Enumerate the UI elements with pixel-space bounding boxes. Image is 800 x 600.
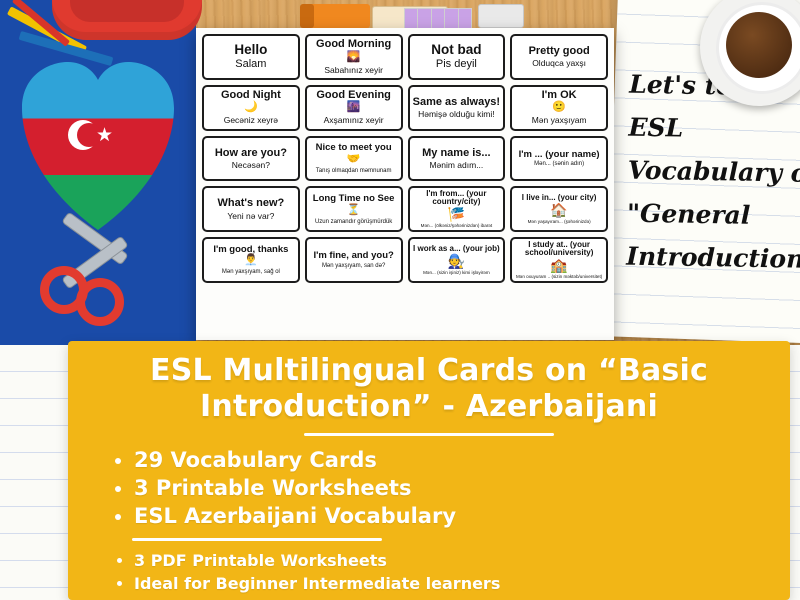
card-english-text: Pretty good: [529, 46, 590, 57]
card-azerbaijani-text: Mən oxuyuram .. (sizin məktəb/universite…: [516, 275, 602, 280]
card-english-text: My name is...: [422, 148, 490, 159]
card-azerbaijani-text: Mən yaxşıyam, san də?: [322, 263, 385, 269]
card-azerbaijani-text: Axşamınız xeyir: [324, 116, 384, 125]
vocab-card: Long Time no See⏳Uzun zamandır görüşmürd…: [305, 186, 403, 232]
card-english-text: I live in... (your city): [522, 194, 597, 202]
vocab-card: Good Night🌙Gecəniz xeyrə: [202, 85, 300, 131]
card-english-text: Nice to meet you: [316, 143, 392, 153]
vocab-card: How are you?Necəsən?: [202, 136, 300, 182]
vocab-card: Good Morning🌄Sabahınız xeyir: [305, 34, 403, 80]
card-english-text: Long Time no See: [313, 194, 395, 204]
card-english-text: I'm from... (your country/city): [412, 190, 502, 206]
card-azerbaijani-text: Mən... (sizin işiniz) kimi işləyirəm: [423, 271, 490, 276]
card-azerbaijani-text: Tanış olmaqdan məmnunam: [316, 168, 392, 174]
vocabulary-card-sheet: HelloSalamGood Morning🌄Sabahınız xeyirNo…: [196, 28, 614, 340]
feature-item: ESL Azerbaijani Vocabulary: [134, 502, 766, 530]
card-azerbaijani-text: Həmişə olduğu kimi!: [418, 110, 495, 119]
card-azerbaijani-text: Mənim adım...: [429, 161, 483, 170]
card-english-text: I'm ... (your name): [519, 150, 600, 160]
card-illustration-icon: 👨‍💼: [244, 255, 258, 266]
vocab-card: HelloSalam: [202, 34, 300, 80]
card-illustration-icon: 🎏: [448, 207, 465, 221]
azerbaijan-flag-poster: ★: [0, 0, 196, 345]
card-illustration-icon: 🌄: [347, 52, 361, 63]
vocab-card: My name is...Mənim adım...: [408, 136, 506, 182]
card-english-text: Same as always!: [413, 97, 500, 108]
orange-marker-icon: [306, 4, 370, 28]
card-azerbaijani-text: Olduqca yaxşı: [532, 59, 586, 68]
card-illustration-icon: 🌙: [244, 102, 258, 113]
vocab-card: I'm ... (your name)Mən... (sənin adın): [510, 136, 608, 182]
card-english-text: Hello: [234, 43, 267, 57]
coffee-liquid: [726, 12, 792, 78]
card-azerbaijani-text: Pis deyil: [436, 59, 477, 71]
card-english-text: Good Night: [221, 90, 281, 101]
feature-item: 3 PDF Printable Worksheets: [134, 549, 766, 572]
vocab-card: Pretty goodOlduqca yaxşı: [510, 34, 608, 80]
crescent-icon: [68, 120, 98, 150]
card-azerbaijani-text: Gecəniz xeyrə: [224, 116, 278, 125]
vocab-card: I'm fine, and you?Mən yaxşıyam, san də?: [305, 237, 403, 283]
banner-divider-secondary: [132, 538, 382, 541]
vocab-card: I live in... (your city)🏠Mən yaşayıram..…: [510, 186, 608, 232]
feature-item: Ideal for Beginner Intermediate learners: [134, 572, 766, 595]
bag-flap: [70, 0, 184, 22]
vocab-card: What's new?Yeni nə var?: [202, 186, 300, 232]
feature-list-secondary: 3 PDF Printable WorksheetsIdeal for Begi…: [92, 549, 766, 595]
card-english-text: Not bad: [431, 43, 481, 57]
feature-item: 29 Vocabulary Cards: [134, 446, 766, 474]
card-azerbaijani-text: Mən yaxşıyam, sağ ol: [222, 269, 280, 275]
card-illustration-icon: 🙂: [552, 102, 566, 113]
scissors-icon: [40, 222, 148, 314]
card-azerbaijani-text: Mən... (ölkəniz/şəhərinizdən) ibarət: [421, 224, 493, 229]
vocab-card: I'm good, thanks👨‍💼Mən yaxşıyam, sağ ol: [202, 237, 300, 283]
card-azerbaijani-text: Mən yaxşıyam: [532, 116, 587, 125]
card-illustration-icon: 🏫: [550, 258, 567, 272]
title-banner: ESL Multilingual Cards on “Basic Introdu…: [68, 341, 790, 600]
card-english-text: I'm good, thanks: [213, 245, 288, 255]
card-grid: HelloSalamGood Morning🌄Sabahınız xeyirNo…: [202, 34, 608, 334]
banner-title: ESL Multilingual Cards on “Basic Introdu…: [92, 353, 766, 425]
card-azerbaijani-text: Mən yaşayıram... (şəhərinizdə): [528, 220, 591, 225]
card-azerbaijani-text: Mən... (sənin adın): [534, 161, 584, 167]
red-bag-icon: [52, 0, 202, 40]
card-illustration-icon: 🧑‍🔧: [448, 254, 465, 268]
vocab-card: I work as a... (your job)🧑‍🔧Mən... (sizi…: [408, 237, 506, 283]
card-azerbaijani-text: Yeni nə var?: [227, 212, 274, 221]
star-icon: ★: [96, 126, 113, 145]
marker-cap-icon: [300, 4, 314, 28]
vocab-card: Not badPis deyil: [408, 34, 506, 80]
vocab-card: Good Evening🌆Axşamınız xeyir: [305, 85, 403, 131]
vocab-card: Same as always!Həmişə olduğu kimi!: [408, 85, 506, 131]
flag-heart-icon: ★: [22, 62, 174, 232]
card-azerbaijani-text: Sabahınız xeyir: [324, 66, 383, 75]
feature-list: 29 Vocabulary Cards3 Printable Worksheet…: [92, 446, 766, 530]
card-english-text: I work as a... (your job): [413, 245, 500, 253]
vocab-card: Nice to meet you🤝Tanış olmaqdan məmnunam: [305, 136, 403, 182]
card-illustration-icon: 🏠: [550, 203, 567, 217]
grey-marker-icon: [478, 4, 524, 28]
vocab-card: I study at.. (your school/university)🏫Mə…: [510, 237, 608, 283]
vocab-card: I'm from... (your country/city)🎏Mən... (…: [408, 186, 506, 232]
card-english-text: Good Evening: [316, 90, 391, 101]
card-azerbaijani-text: Necəsən?: [232, 161, 270, 170]
card-illustration-icon: ⏳: [347, 205, 361, 216]
banner-divider: [304, 433, 554, 436]
card-english-text: I'm fine, and you?: [313, 251, 393, 261]
vocab-card: I'm OK🙂Mən yaxşıyam: [510, 85, 608, 131]
card-english-text: I'm OK: [542, 90, 577, 101]
feature-item: 3 Printable Worksheets: [134, 474, 766, 502]
card-illustration-icon: 🤝: [347, 154, 361, 165]
card-azerbaijani-text: Salam: [235, 59, 266, 71]
card-english-text: What's new?: [217, 198, 284, 209]
card-illustration-icon: 🌆: [347, 102, 361, 113]
card-english-text: Good Morning: [316, 39, 391, 50]
card-azerbaijani-text: Uzun zamandır görüşmürdük: [315, 219, 392, 225]
card-english-text: How are you?: [215, 148, 287, 159]
card-english-text: I study at.. (your school/university): [514, 241, 604, 257]
